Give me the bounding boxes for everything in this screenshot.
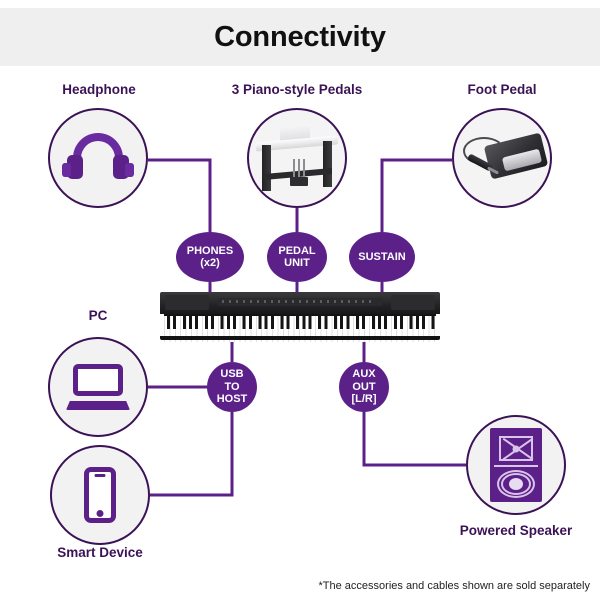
label-pc: PC [48,308,148,323]
piano-base [160,336,440,340]
piano-speaker-right [391,295,435,310]
port-pedal-unit[interactable]: PEDAL UNIT [267,232,327,282]
device-headphone[interactable] [48,108,148,208]
port-phones[interactable]: PHONES (x2) [176,232,244,282]
piano-control-panel [160,292,440,314]
port-usb-to-host[interactable]: USB TO HOST [207,362,257,412]
label-headphone: Headphone [14,82,184,97]
port-sustain-line-1: SUSTAIN [358,251,405,264]
device-powered-speaker[interactable] [466,415,566,515]
device-foot-pedal[interactable] [452,108,552,208]
port-phones-line-2: (x2) [187,257,233,270]
wire-footpedal-sustain [382,160,452,232]
port-sustain[interactable]: SUSTAIN [349,232,415,282]
port-aux-out[interactable]: AUX OUT [L/R] [339,362,389,412]
port-pedal-unit-line-1: PEDAL [278,245,315,258]
port-aux-line-2: OUT [351,381,376,394]
device-smart-device[interactable] [50,445,150,545]
speaker-icon [490,428,542,502]
piano-speaker-left [165,295,209,310]
connectivity-diagram: Connectivity Headphone [0,0,600,600]
headphone-icon [67,133,129,183]
label-foot-pedal: Foot Pedal [422,82,582,97]
device-piano-pedals[interactable] [247,108,347,208]
wire-headphone-phones [148,160,210,232]
port-aux-line-1: AUX [351,368,376,381]
port-usb-line-2: TO [217,381,248,394]
label-pedals: 3 Piano-style Pedals [197,82,397,97]
port-usb-line-1: USB [217,368,248,381]
piano-black-keys [164,314,436,329]
foot-pedal-photo [457,127,547,189]
footnote-accessories: *The accessories and cables shown are so… [319,580,590,592]
laptop-icon [66,364,130,410]
device-pc[interactable] [48,337,148,437]
port-pedal-unit-line-2: UNIT [278,257,315,270]
wire-aux-speaker [364,412,466,465]
piano-stand-photo [254,121,340,195]
piano-buttons-row [222,300,372,303]
port-phones-line-1: PHONES [187,245,233,258]
label-smart-device: Smart Device [35,545,165,560]
smartphone-icon [84,467,116,523]
label-powered-speaker: Powered Speaker [436,523,596,538]
wire-usb-smartdevice [150,412,232,495]
port-aux-line-3: [L/R] [351,393,376,406]
port-usb-line-3: HOST [217,393,248,406]
digital-piano[interactable] [160,292,440,340]
